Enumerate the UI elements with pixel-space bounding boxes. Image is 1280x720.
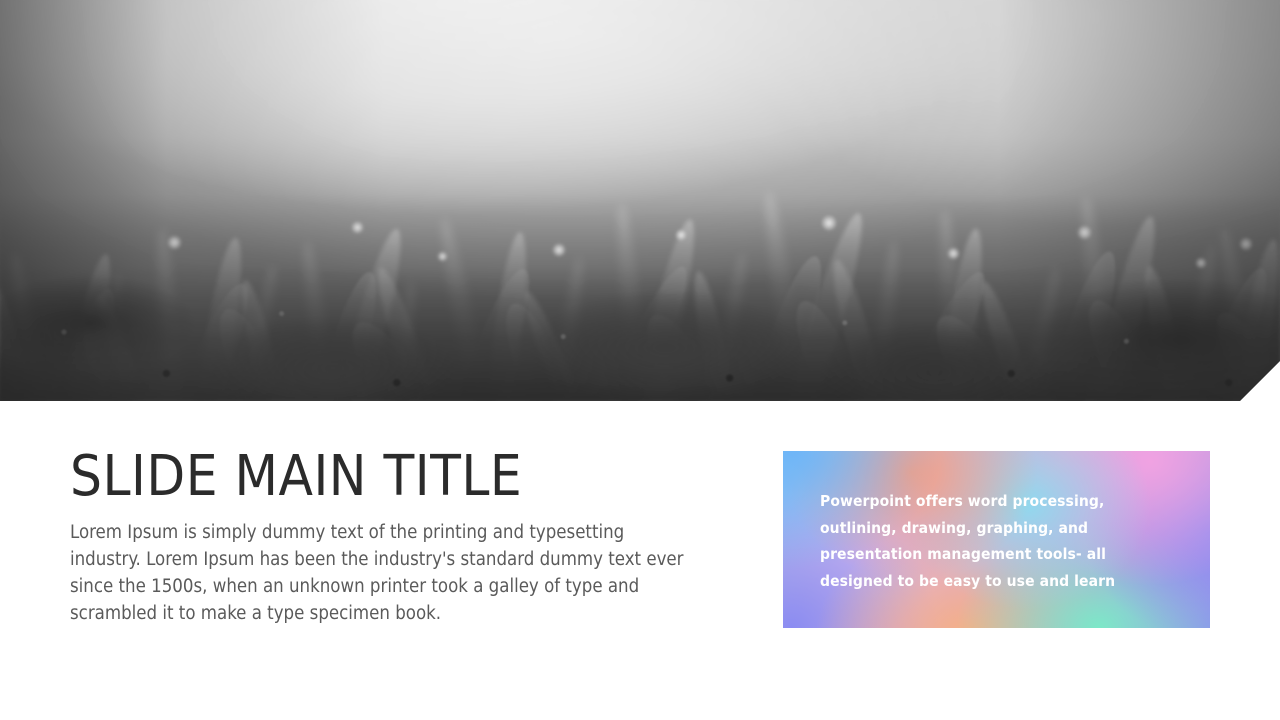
body-paragraph: Lorem Ipsum is simply dummy text of the … [70,519,695,627]
text-column: SLIDE MAIN TITLE Lorem Ipsum is simply d… [70,449,700,627]
slide-canvas: SLIDE MAIN TITLE Lorem Ipsum is simply d… [0,0,1280,720]
page-title: SLIDE MAIN TITLE [70,449,700,505]
callout-text: Powerpoint offers word processing, outli… [820,488,1150,594]
gradient-callout-box: Powerpoint offers word processing, outli… [783,451,1210,628]
photo-vignette-layer [0,0,1280,401]
seedlings-photo [0,0,1280,401]
content-area: SLIDE MAIN TITLE Lorem Ipsum is simply d… [0,401,1280,720]
hero-image-panel [0,0,1280,401]
